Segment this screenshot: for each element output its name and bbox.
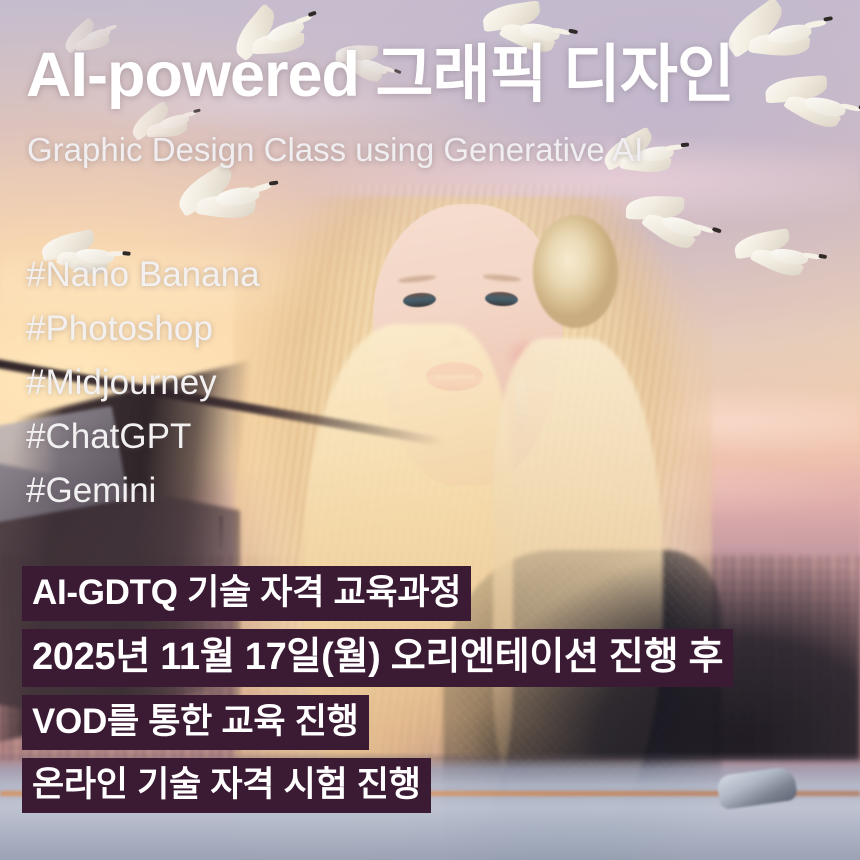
- info-bar-list: AI-GDTQ 기술 자격 교육과정 2025년 11월 17일(월) 오리엔테…: [22, 566, 733, 813]
- hashtag-item: #Gemini: [26, 464, 426, 518]
- hair-bun: [533, 215, 618, 328]
- info-bar-row: 온라인 기술 자격 시험 진행: [22, 758, 733, 813]
- info-bar-row: VOD를 통한 교육 진행: [22, 695, 733, 750]
- info-bar-orientation-date: 2025년 11월 17일(월) 오리엔테이션 진행 후: [22, 629, 733, 687]
- hashtag-item: #Photoshop: [26, 302, 426, 356]
- hashtag-item: #Midjourney: [26, 356, 426, 410]
- hashtag-item: #Nano Banana: [26, 248, 426, 302]
- info-bar-online-exam: 온라인 기술 자격 시험 진행: [22, 758, 431, 813]
- info-bar-row: 2025년 11월 17일(월) 오리엔테이션 진행 후: [22, 629, 733, 687]
- hashtag-list: #Nano Banana #Photoshop #Midjourney #Cha…: [26, 248, 426, 518]
- page-title: AI-powered 그래픽 디자인: [26, 44, 846, 107]
- info-bar-vod: VOD를 통한 교육 진행: [22, 695, 369, 750]
- poster-canvas: AI-powered 그래픽 디자인 Graphic Design Class …: [0, 0, 860, 860]
- info-bar-course-name: AI-GDTQ 기술 자격 교육과정: [22, 566, 471, 621]
- hashtag-item: #ChatGPT: [26, 410, 426, 464]
- info-bar-row: AI-GDTQ 기술 자격 교육과정: [22, 566, 733, 621]
- page-subtitle: Graphic Design Class using Generative AI: [27, 133, 847, 166]
